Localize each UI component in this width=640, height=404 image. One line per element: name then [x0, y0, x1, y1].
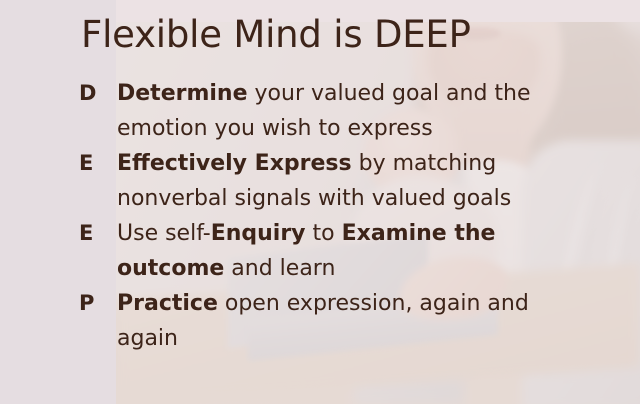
deep-acronym-list: DDetermine your valued goal and the emot…: [79, 76, 549, 356]
text-plain: Use self-: [117, 221, 211, 246]
list-item-text: Use self-Enquiry to Examine the outcome …: [117, 216, 549, 286]
list-item-letter: E: [79, 216, 117, 251]
list-item-text: Practice open expression, again and agai…: [117, 286, 549, 356]
page-title: Flexible Mind is DEEP: [81, 14, 471, 55]
text-emphasis: Enquiry: [211, 221, 306, 246]
text-plain: and learn: [224, 256, 335, 281]
list-item: DDetermine your valued goal and the emot…: [79, 76, 549, 146]
list-item-letter: E: [79, 146, 117, 181]
list-item-text: Effectively Express by matching nonverba…: [117, 146, 549, 216]
list-item-text: Determine your valued goal and the emoti…: [117, 76, 549, 146]
list-item: EUse self-Enquiry to Examine the outcome…: [79, 216, 549, 286]
list-item: PPractice open expression, again and aga…: [79, 286, 549, 356]
slide-canvas: Flexible Mind is DEEP DDetermine your va…: [0, 0, 640, 404]
text-emphasis: Practice: [117, 291, 218, 316]
slide-content: Flexible Mind is DEEP DDetermine your va…: [0, 0, 640, 404]
text-plain: to: [306, 221, 342, 246]
list-item-letter: P: [79, 286, 117, 321]
list-item-letter: D: [79, 76, 117, 111]
list-item: EEffectively Express by matching nonverb…: [79, 146, 549, 216]
text-emphasis: Effectively Express: [117, 151, 352, 176]
text-emphasis: Determine: [117, 81, 248, 106]
